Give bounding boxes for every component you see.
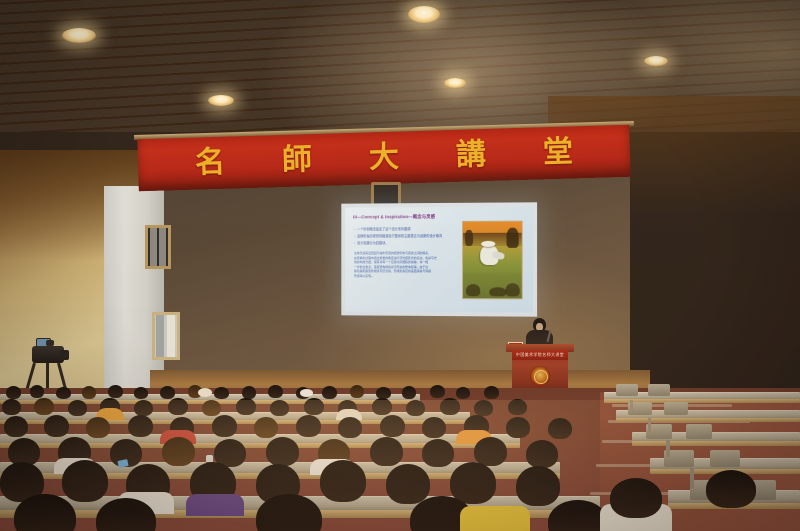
lecture-hall-photo: 名 師 大 講 堂 III—Concept & Inspiration—概念与灵… bbox=[0, 0, 800, 531]
vignette bbox=[0, 0, 800, 531]
